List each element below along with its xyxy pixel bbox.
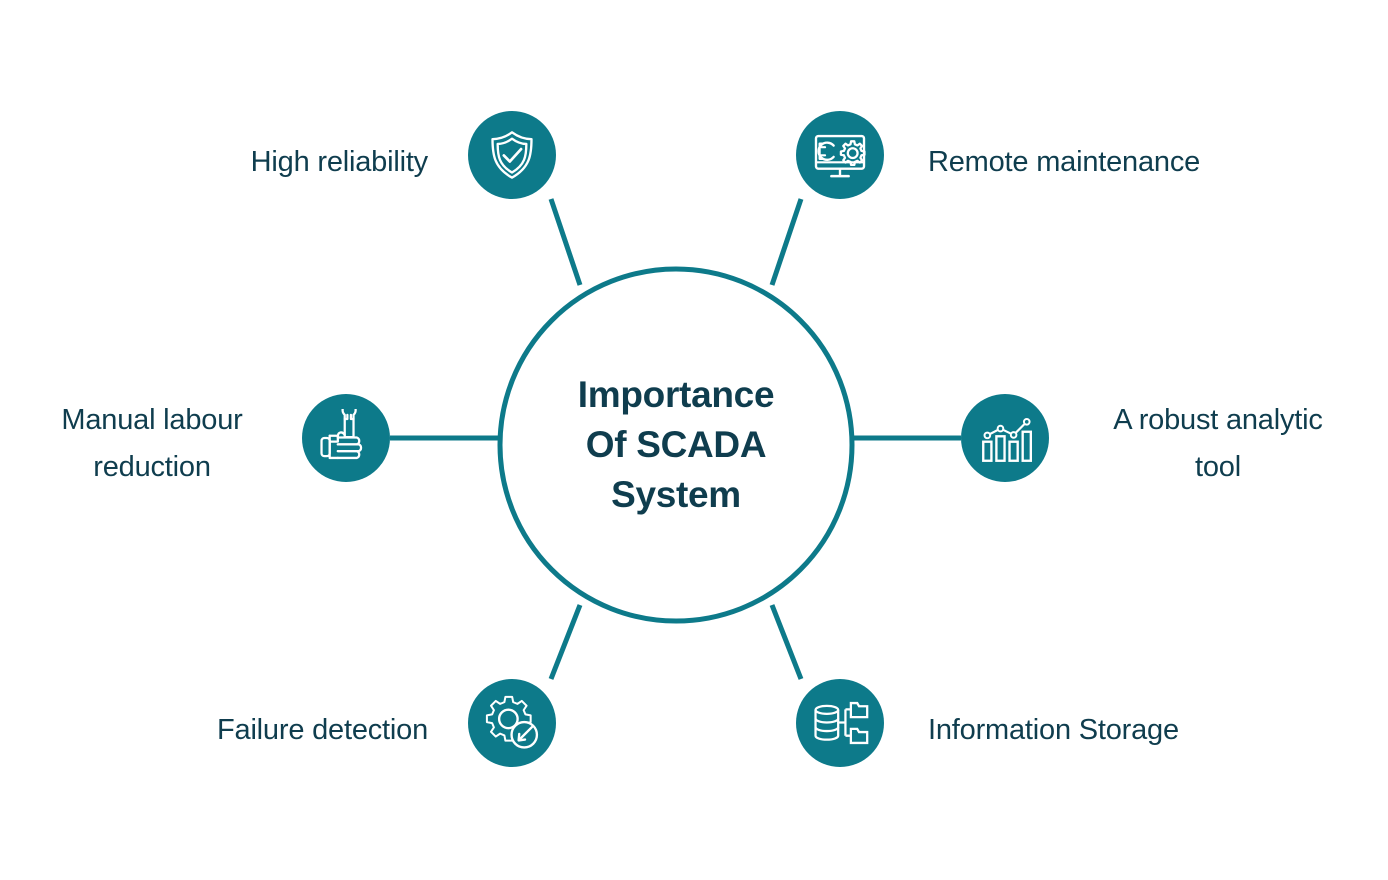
node-label-failure-detection: Failure detection	[155, 707, 428, 754]
icon-badge-remote-maintenance[interactable]	[796, 111, 884, 199]
center-hub-circle	[500, 269, 852, 621]
icon-badge-failure-detection[interactable]	[468, 679, 556, 767]
spoke-line-high-reliability	[551, 199, 580, 285]
icon-badge-circle	[468, 679, 556, 767]
node-label-high-reliability: High reliability	[213, 139, 428, 186]
icon-badge-high-reliability[interactable]	[468, 111, 556, 199]
icon-badge-information-storage[interactable]	[796, 679, 884, 767]
node-label-robust-analytic-tool: A robust analytic tool	[1090, 397, 1346, 491]
node-label-remote-maintenance: Remote maintenance	[928, 139, 1258, 186]
icon-badge-robust-analytic-tool[interactable]	[961, 394, 1049, 482]
spoke-line-information-storage	[772, 605, 801, 679]
icon-badge-manual-labour-reduction[interactable]	[302, 394, 390, 482]
node-label-information-storage: Information Storage	[928, 707, 1248, 754]
spoke-line-failure-detection	[551, 605, 580, 679]
node-label-manual-labour-reduction: Manual labour reduction	[42, 397, 262, 491]
spoke-line-remote-maintenance	[772, 199, 801, 285]
icon-badge-circle	[468, 111, 556, 199]
